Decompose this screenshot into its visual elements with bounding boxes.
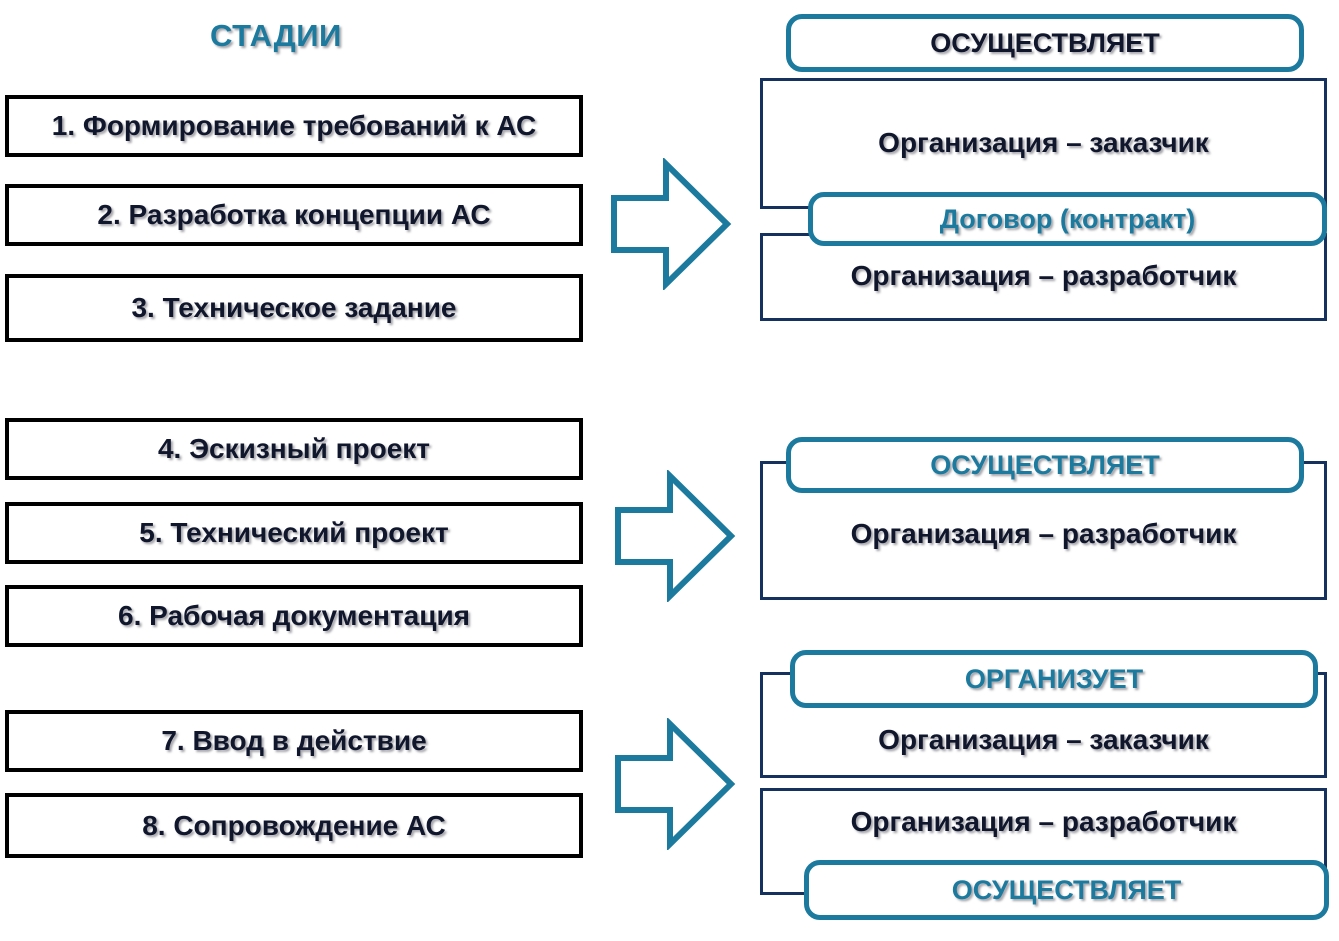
- stage-box-7[interactable]: 7. Ввод в действие: [5, 710, 583, 772]
- banner-osushestvlyaet-group-1[interactable]: ОСУЩЕСТВЛЯЕТ: [786, 14, 1304, 72]
- actor-label-developer-group-2: Организация – разработчик: [760, 520, 1327, 548]
- stage-box-8-label: 8. Сопровождение АС: [142, 812, 446, 840]
- banner-osushestvlyaet-group-3[interactable]: ОСУЩЕСТВЛЯЕТ: [804, 860, 1329, 920]
- actor-label-customer-group-1: Организация – заказчик: [760, 129, 1327, 157]
- stage-box-3[interactable]: 3. Техническое задание: [5, 274, 583, 342]
- stage-box-6[interactable]: 6. Рабочая документация: [5, 585, 583, 647]
- actor-label-developer-group-1: Организация – разработчик: [760, 262, 1327, 290]
- stage-box-3-label: 3. Техническое задание: [131, 294, 456, 322]
- stage-box-8[interactable]: 8. Сопровождение АС: [5, 793, 583, 858]
- banner-label-group-2: ОСУЩЕСТВЛЯЕТ: [930, 452, 1159, 479]
- stage-box-1-label: 1. Формирование требований к АС: [52, 112, 536, 140]
- stage-box-1[interactable]: 1. Формирование требований к АС: [5, 95, 583, 157]
- stage-box-5-label: 5. Технический проект: [139, 519, 448, 547]
- arrow-right-icon-group-2: [612, 470, 738, 602]
- actor-label-customer-group-3: Организация – заказчик: [760, 726, 1327, 754]
- page-title: СТАДИИ: [210, 18, 342, 54]
- banner-label-organizuet: ОРГАНИЗУЕТ: [965, 666, 1143, 693]
- stage-box-4-label: 4. Эскизный проект: [158, 435, 430, 463]
- banner-osushestvlyaet-group-2[interactable]: ОСУЩЕСТВЛЯЕТ: [786, 437, 1304, 493]
- stage-box-2-label: 2. Разработка концепции АС: [97, 201, 490, 229]
- banner-contract-group-1[interactable]: Договор (контракт): [808, 192, 1327, 246]
- stage-box-5[interactable]: 5. Технический проект: [5, 502, 583, 564]
- banner-label-group-1: ОСУЩЕСТВЛЯЕТ: [930, 30, 1159, 57]
- stage-box-7-label: 7. Ввод в действие: [161, 727, 426, 755]
- banner-contract-label: Договор (контракт): [940, 206, 1196, 233]
- stage-box-4[interactable]: 4. Эскизный проект: [5, 418, 583, 480]
- banner-organizuet-group-3[interactable]: ОРГАНИЗУЕТ: [790, 650, 1318, 708]
- stage-box-2[interactable]: 2. Разработка концепции АС: [5, 184, 583, 246]
- arrow-right-icon-group-3: [612, 718, 738, 850]
- banner-label-group-3-footer: ОСУЩЕСТВЛЯЕТ: [952, 877, 1181, 904]
- stage-box-6-label: 6. Рабочая документация: [118, 602, 470, 630]
- arrow-right-icon-group-1: [608, 158, 734, 290]
- diagram-canvas: СТАДИИ 1. Формирование требований к АС 2…: [0, 0, 1339, 941]
- actor-label-developer-group-3: Организация – разработчик: [760, 808, 1327, 836]
